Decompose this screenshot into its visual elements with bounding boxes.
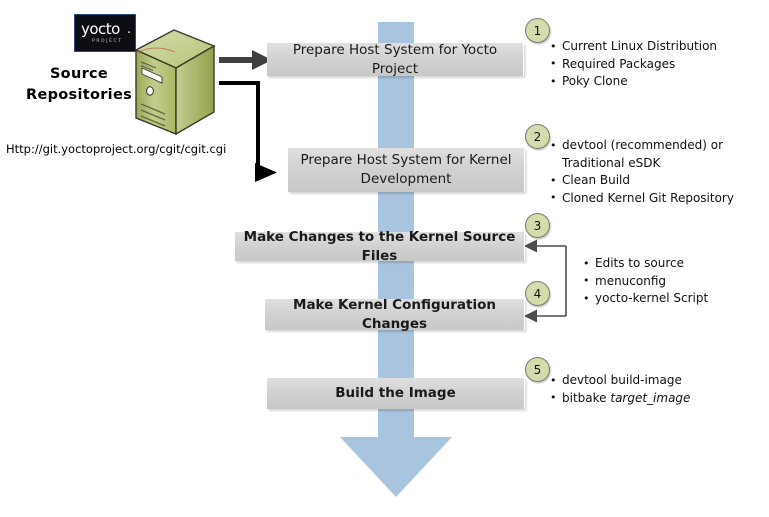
process-box-step5[interactable]: Build the Image (267, 378, 525, 409)
server-tower-icon (132, 26, 218, 142)
connector-shared-notes-to-steps-3-and-4 (524, 240, 566, 323)
yocto-project-logo: yocto · PROJECT (74, 14, 136, 52)
note-item-continuation: Traditional eSDK (550, 155, 734, 173)
step-badge-5: 5 (525, 357, 550, 382)
logo-subtitle: PROJECT (92, 39, 123, 44)
process-box-step3[interactable]: Make Changes to the Kernel Source Files (235, 232, 525, 261)
note-item: yocto-kernel Script (583, 290, 708, 308)
source-repositories-label: Source Repositories (16, 64, 142, 106)
note-item: devtool build-image (550, 372, 690, 390)
connector-server-to-step2 (219, 83, 277, 182)
note-item: Poky Clone (550, 73, 717, 91)
note-item: Clean Build (550, 172, 734, 190)
source-repository-url: Http://git.yoctoproject.org/cgit/cgit.cg… (6, 142, 226, 156)
connector-server-to-step1 (219, 50, 272, 70)
diagram-canvas: yocto · PROJECT Source Repositories Http… (0, 0, 769, 517)
note-item: Required Packages (550, 56, 717, 74)
source-label-line2: Repositories (16, 85, 142, 106)
notes-steps-3-and-4: Edits to source menuconfig yocto-kernel … (583, 255, 708, 308)
logo-wordmark: yocto (81, 22, 120, 37)
step-badge-1: 1 (525, 18, 550, 43)
step-badge-4: 4 (525, 281, 550, 306)
logo-dot-icon: · (127, 27, 131, 40)
process-box-step4[interactable]: Make Kernel Configuration Changes (265, 299, 525, 330)
source-label-line1: Source (16, 64, 142, 85)
process-box-step1[interactable]: Prepare Host System for Yocto Project (267, 43, 524, 76)
notes-step2: devtool (recommended) or Traditional eSD… (550, 137, 734, 207)
note-item: Current Linux Distribution (550, 38, 717, 56)
note-item-bitbake: bitbake target_image (550, 390, 690, 408)
note-item: menuconfig (583, 273, 708, 291)
notes-step1: Current Linux Distribution Required Pack… (550, 38, 717, 91)
step-badge-2: 2 (525, 124, 550, 149)
note-bitbake-target: target_image (610, 391, 690, 405)
note-item: Cloned Kernel Git Repository (550, 190, 734, 208)
step-badge-3: 3 (525, 213, 550, 238)
notes-step5: devtool build-image bitbake target_image (550, 372, 690, 407)
note-item: devtool (recommended) or (550, 137, 734, 155)
main-flow-arrow-head (340, 437, 452, 497)
note-bitbake-command: bitbake (562, 391, 610, 405)
process-box-step2[interactable]: Prepare Host System for Kernel Developme… (288, 148, 525, 192)
note-item: Edits to source (583, 255, 708, 273)
